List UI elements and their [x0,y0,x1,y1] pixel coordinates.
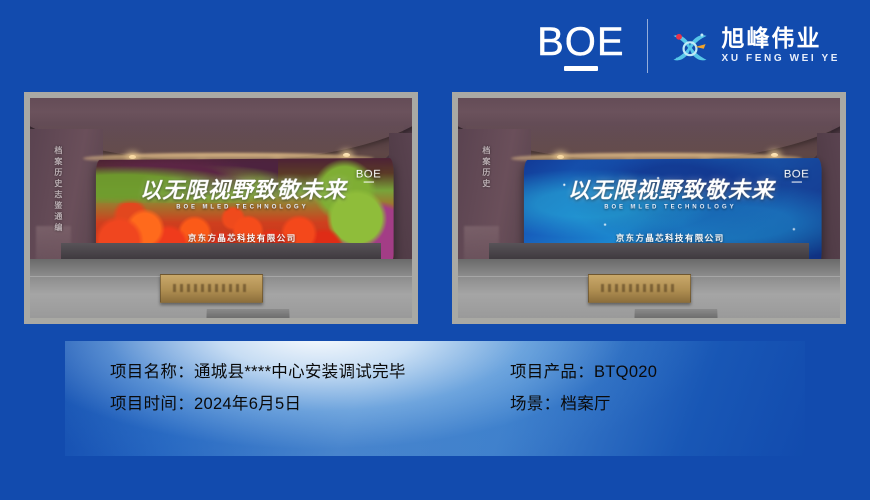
wooden-plaque [588,274,691,303]
project-info-grid: 项目名称：通城县****中心安装调试完毕 项目产品：BTQ020 项目时间：20… [110,363,657,415]
photo-right[interactable]: 档案历史 BOE 以无限视野致敬未来 BOE MLED TECHNOLOGY 京… [452,92,846,324]
room-interior-right: 档案历史 BOE 以无限视野致敬未来 BOE MLED TECHNOLOGY 京… [458,98,840,318]
wooden-plaque [160,274,263,303]
project-product-value: BTQ020 [594,363,657,381]
floor-tile [206,309,290,319]
project-product-label: 项目产品： [510,363,594,381]
project-time-label: 项目时间： [110,395,194,413]
project-time-row: 项目时间：2024年6月5日 [110,395,510,415]
xufeng-figure-icon [668,24,712,68]
project-name-label: 项目名称： [110,363,194,381]
wall-vertical-text: 档案历史志鉴通编 [53,146,63,234]
partner-name-cn: 旭峰伟业 [722,26,840,51]
floor-tile [634,309,718,319]
partner-name-block: 旭峰伟业 XU FENG WEI YE [722,26,840,66]
project-product-row: 项目产品：BTQ020 [510,363,657,383]
photo-gallery: 档案历史志鉴通编 BOE 以无限视野致敬未来 BOE MLED TECHNOLO… [24,92,846,324]
boe-underline-mark [564,66,598,71]
partner-name-en: XU FENG WEI YE [722,51,840,66]
boe-logo[interactable]: BOE [537,22,624,71]
project-name-row: 项目名称：通城县****中心安装调试完毕 [110,363,510,383]
wall-base-ledge [61,243,382,258]
project-scene-value: 档案厅 [560,395,610,413]
project-time-value: 2024年6月5日 [194,395,301,413]
led-corner-boe-logo: BOE [784,167,809,182]
photo-right-image: 档案历史 BOE 以无限视野致敬未来 BOE MLED TECHNOLOGY 京… [458,98,840,318]
boe-wordmark: BOE [537,22,624,62]
wall-vertical-text: 档案历史 [481,146,491,190]
logo-group: BOE 旭峰伟业 XU FENG WEI YE [537,18,840,74]
photo-left[interactable]: 档案历史志鉴通编 BOE 以无限视野致敬未来 BOE MLED TECHNOLO… [24,92,418,324]
project-info-panel: 项目名称：通城县****中心安装调试完毕 项目产品：BTQ020 项目时间：20… [65,341,805,456]
led-corner-boe-logo: BOE [356,167,381,182]
led-content-greens [96,158,278,203]
project-scene-row: 场景：档案厅 [510,395,657,415]
project-scene-label: 场景： [510,395,560,413]
header: BOE 旭峰伟业 XU FENG WEI YE [0,0,870,92]
project-name-value: 通城县****中心安装调试完毕 [194,363,406,381]
room-interior-left: 档案历史志鉴通编 BOE 以无限视野致敬未来 BOE MLED TECHNOLO… [30,98,412,318]
photo-left-image: 档案历史志鉴通编 BOE 以无限视野致敬未来 BOE MLED TECHNOLO… [30,98,412,318]
header-divider [647,19,648,73]
partner-logo-group[interactable]: 旭峰伟业 XU FENG WEI YE [668,24,840,68]
wall-base-ledge [489,243,810,258]
